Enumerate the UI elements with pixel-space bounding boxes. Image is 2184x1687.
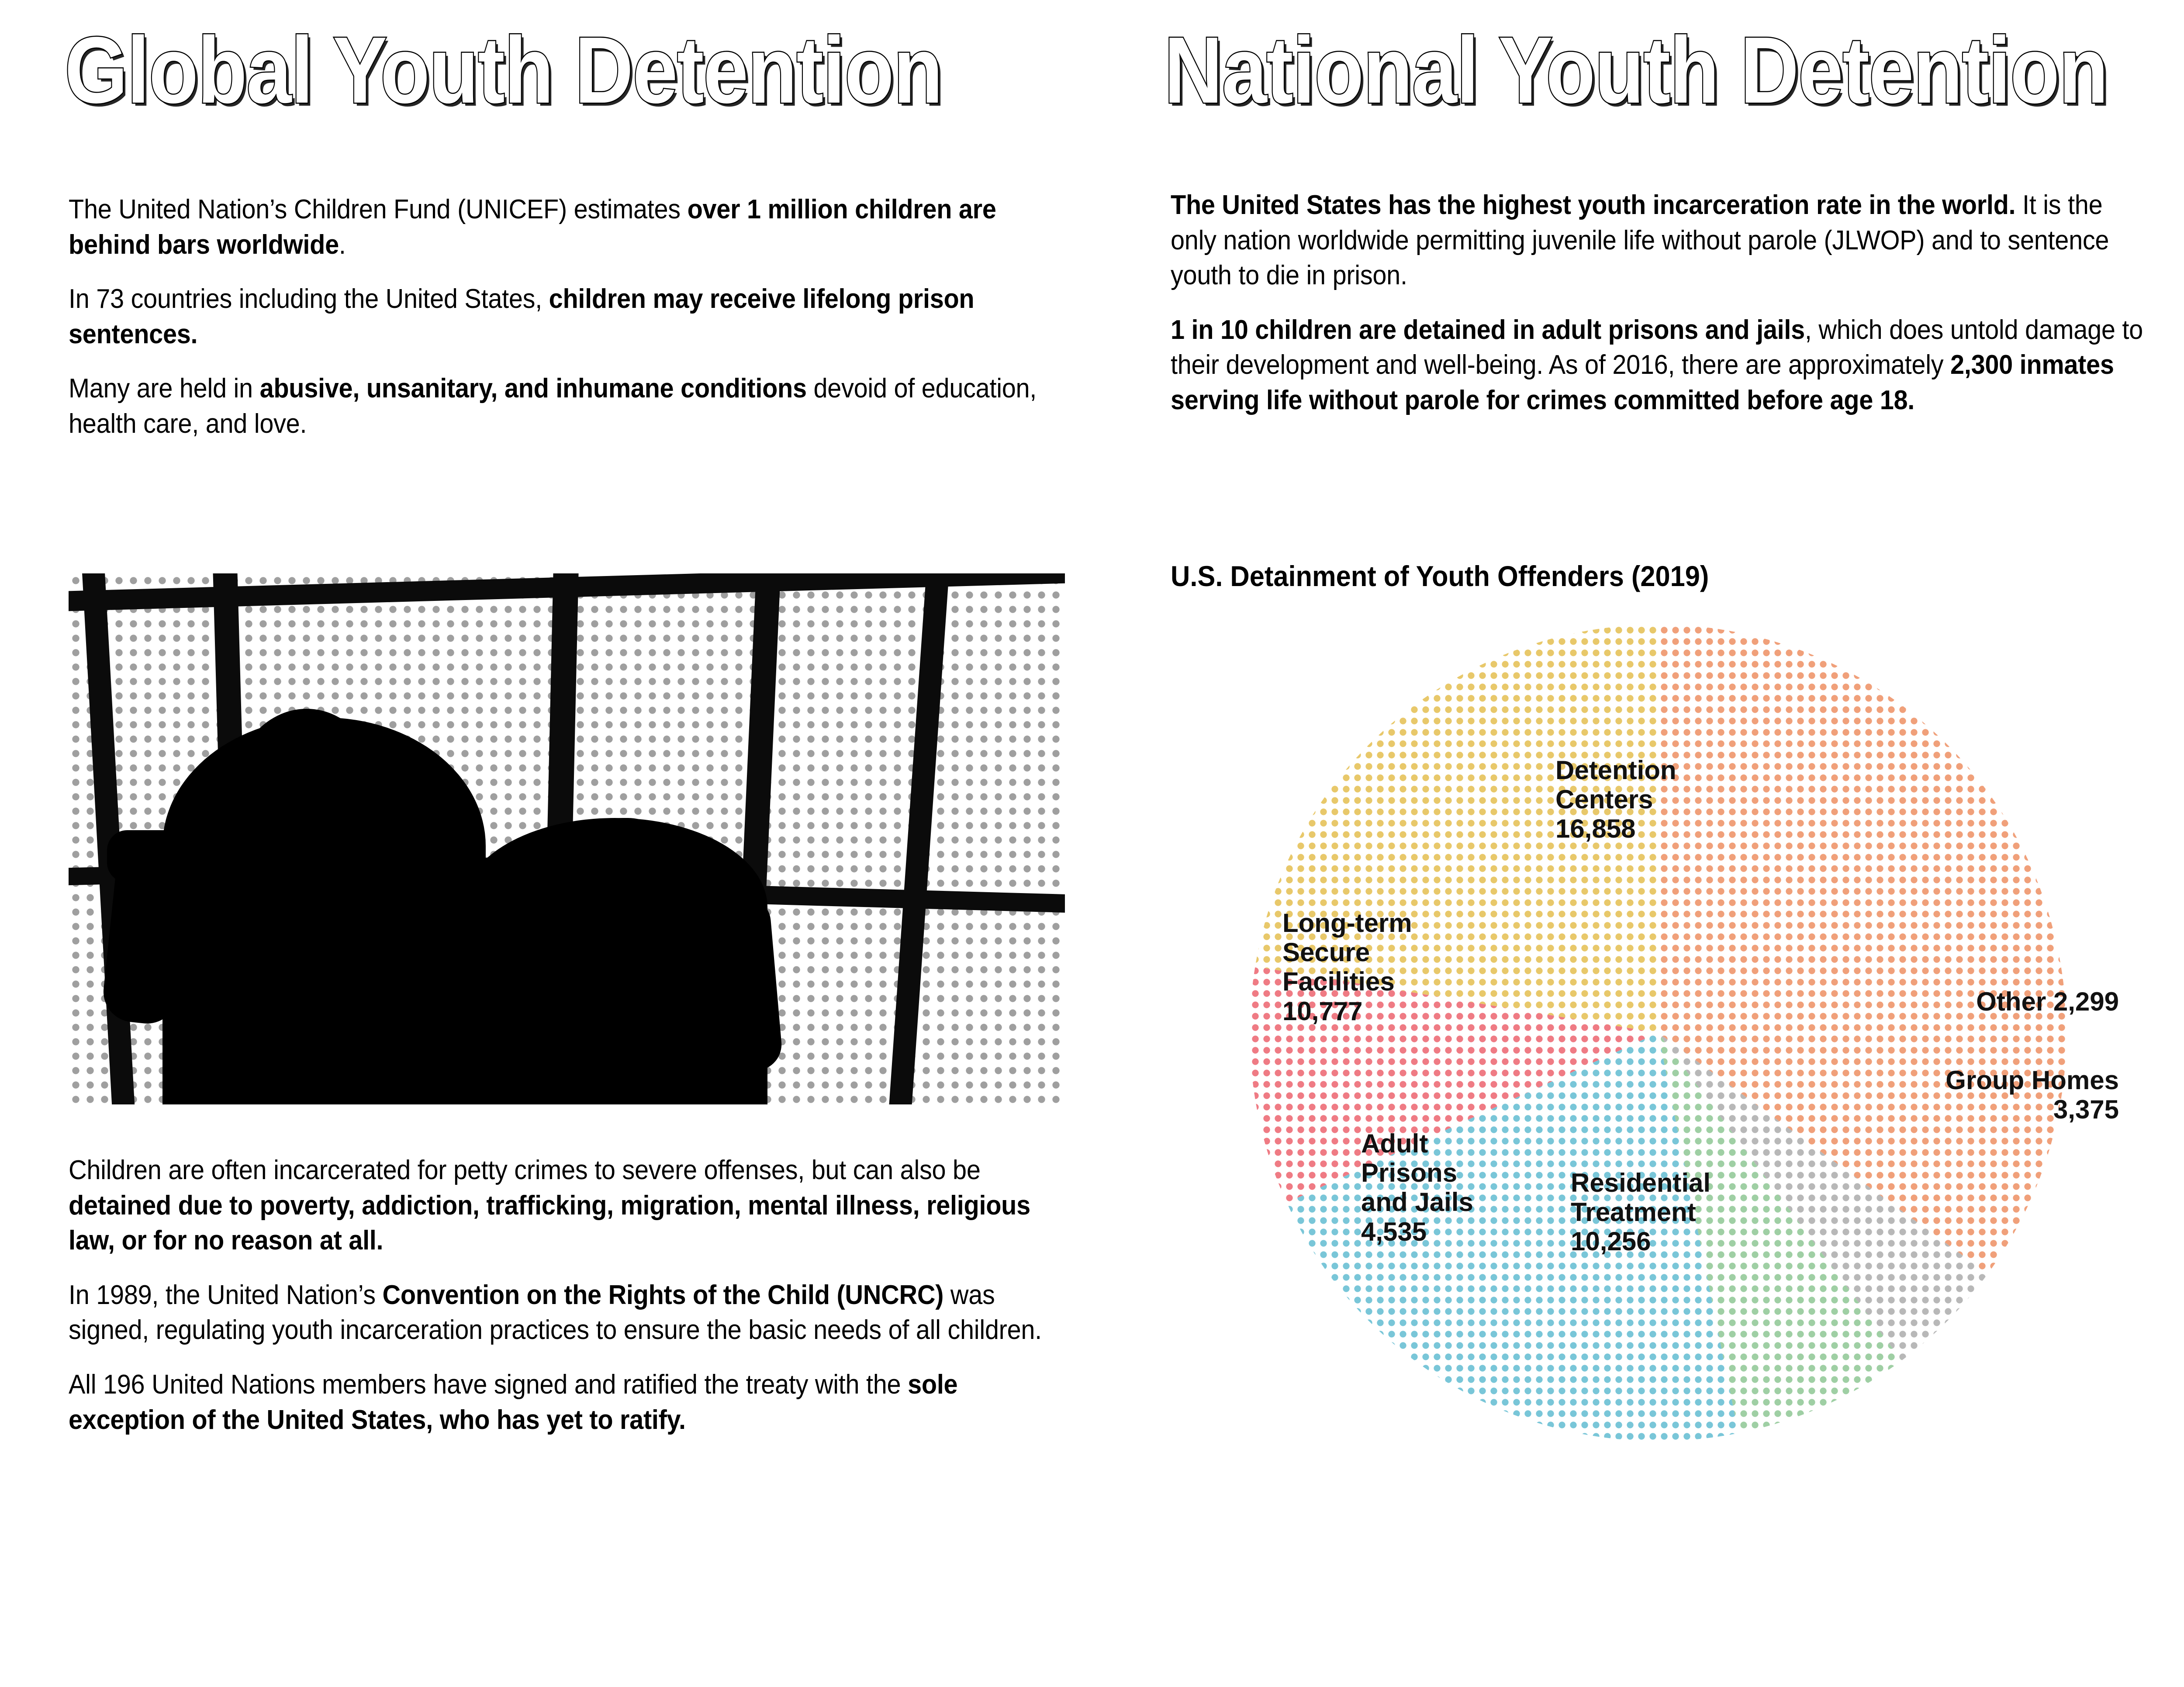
column-global: Global Youth Detention The United Nation… (0, 0, 1144, 1687)
child-hand (107, 830, 194, 883)
paragraph: The United Nation’s Children Fund (UNICE… (69, 192, 1056, 262)
pie-slice-label: Residential Treatment 10,256 (1571, 1168, 1711, 1256)
chart-title: U.S. Detainment of Youth Offenders (2019… (1171, 559, 1709, 593)
paragraph: Children are often incarcerated for pett… (69, 1153, 1056, 1259)
pie-slice-label: Detention Centers 16,858 (1555, 756, 1676, 844)
paragraph: All 196 United Nations members have sign… (69, 1367, 1056, 1438)
paragraph: In 73 countries including the United Sta… (69, 282, 1056, 352)
child-head (562, 818, 689, 984)
pie-chart-graphic (1250, 624, 2067, 1441)
global-lower-copy: Children are often incarcerated for pett… (69, 1153, 1056, 1457)
pie-slice-label: Long-term Secure Facilities 10,777 (1282, 908, 1412, 1026)
pie-chart: Detention Centers 16,858Other 2,299Group… (1250, 624, 2067, 1441)
global-intro-copy: The United Nation’s Children Fund (UNICE… (69, 192, 1056, 461)
paragraph: In 1989, the United Nation’s Convention … (69, 1278, 1056, 1348)
child-hand (289, 840, 370, 890)
page-title-global: Global Youth Detention (65, 23, 942, 117)
pie-slice-label: Group Homes 3,375 (1946, 1066, 2119, 1124)
paragraph: The United States has the highest youth … (1171, 188, 2154, 293)
prison-bars-photo (69, 573, 1065, 1104)
paragraph: 1 in 10 children are detained in adult p… (1171, 313, 2154, 418)
national-copy: The United States has the highest youth … (1171, 188, 2154, 438)
pie-slice-label: Adult Prisons and Jails 4,535 (1361, 1129, 1473, 1246)
paragraph: Many are held in abusive, unsanitary, an… (69, 371, 1056, 442)
pie-slice (1250, 624, 2067, 1441)
page-title-national: National Youth Detention (1164, 23, 2108, 117)
pie-slice-label: Other 2,299 (1976, 987, 2119, 1016)
